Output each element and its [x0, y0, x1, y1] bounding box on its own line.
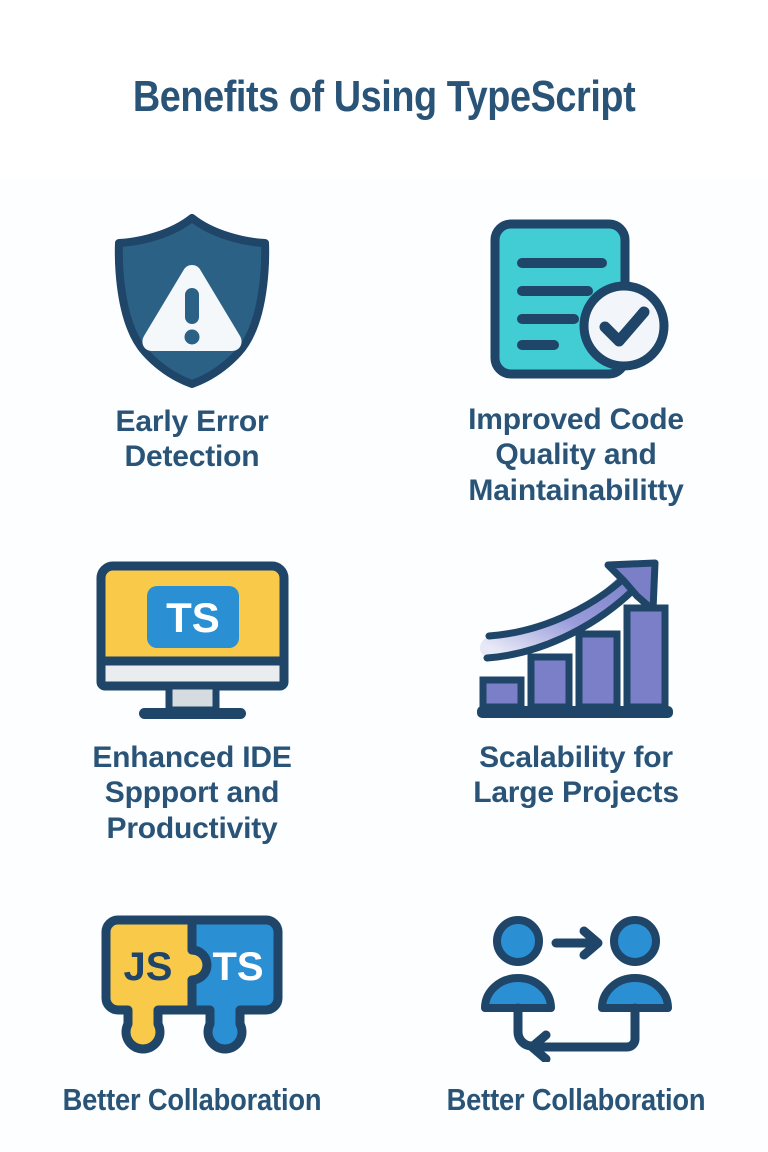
monitor-ts-icon: TS: [85, 556, 300, 726]
benefits-grid: Early Error Detection Improved Code Qual…: [0, 180, 768, 1152]
growth-chart-icon: [469, 556, 684, 726]
benefit-label: Better Collaboration: [447, 1082, 706, 1119]
puzzle-js-ts-icon: JS TS: [92, 912, 292, 1062]
page-title-container: Benefits of Using TypeScript: [0, 72, 768, 122]
puzzle-left-text: JS: [124, 945, 173, 989]
benefit-label: Enhanced IDE Sppport and Productivity: [92, 740, 291, 846]
two-people-exchange-icon: [474, 912, 679, 1062]
benefit-card-enhanced-ide-support[interactable]: TS Enhanced IDE Sppport and Productivity: [0, 542, 384, 882]
document-check-icon: [469, 210, 684, 388]
benefit-label: Early Error Detection: [116, 404, 269, 475]
page-title: Benefits of Using TypeScript: [133, 72, 635, 122]
benefit-card-collaboration-team[interactable]: Better Collaboration: [384, 882, 768, 1152]
benefit-card-collaboration-puzzle[interactable]: JS TS Better Collaboration: [0, 882, 384, 1152]
shield-warning-icon: [97, 210, 287, 390]
benefit-label: Improved Code Quality and Maintainabilit…: [468, 402, 684, 508]
ts-badge-text: TS: [166, 594, 220, 641]
puzzle-right-text: TS: [212, 945, 263, 989]
benefit-card-scalability[interactable]: Scalability for Large Projects: [384, 542, 768, 882]
infographic-poster: Benefits of Using TypeScript Early Error…: [0, 0, 768, 1152]
benefit-label: Better Collaboration: [63, 1082, 322, 1119]
benefit-card-improved-code-quality[interactable]: Improved Code Quality and Maintainabilit…: [384, 180, 768, 542]
benefit-label: Scalability for Large Projects: [473, 740, 679, 811]
benefit-card-early-error-detection[interactable]: Early Error Detection: [0, 180, 384, 542]
